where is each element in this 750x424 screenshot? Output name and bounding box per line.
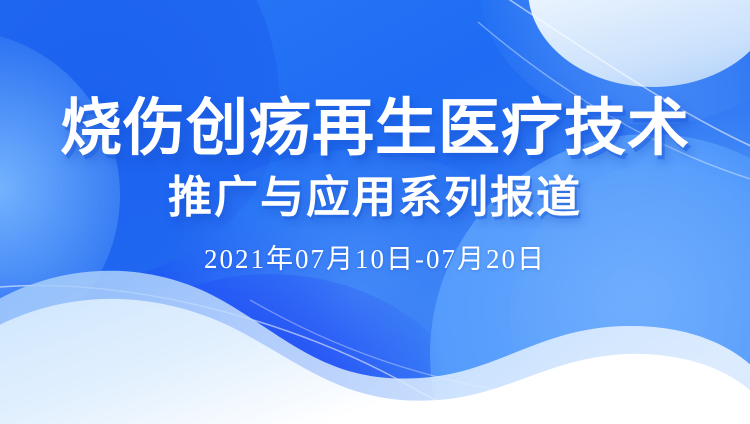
promo-banner-poster: 烧伤创疡再生医疗技术 推广与应用系列报道 2021年07月10日-07月20日 <box>0 0 750 424</box>
poster-date-range: 2021年07月10日-07月20日 <box>204 246 546 273</box>
poster-subtitle: 推广与应用系列报道 <box>168 176 582 220</box>
poster-title: 烧伤创疡再生医疗技术 <box>60 98 690 160</box>
poster-text-block: 烧伤创疡再生医疗技术 推广与应用系列报道 2021年07月10日-07月20日 <box>0 0 750 424</box>
